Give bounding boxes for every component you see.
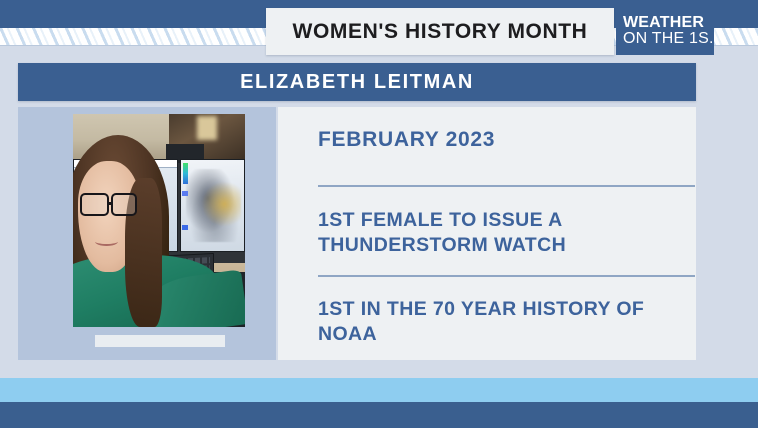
photo-radar-marker-2 bbox=[182, 225, 188, 230]
photo-radar-marker-1 bbox=[182, 191, 188, 196]
photo-smile bbox=[95, 238, 117, 247]
photo-panel bbox=[18, 107, 276, 360]
person-photo bbox=[73, 114, 245, 327]
weather-on-the-1s-logo: WEATHER ON THE 1S. bbox=[616, 8, 714, 55]
divider-rule-2 bbox=[318, 275, 695, 277]
person-name: ELIZABETH LEITMAN bbox=[240, 71, 474, 94]
photo-caption-strip bbox=[95, 335, 225, 347]
photo-eyeglass-left bbox=[80, 193, 109, 216]
broadcast-graphic: WOMEN'S HISTORY MONTH WEATHER ON THE 1S.… bbox=[0, 0, 758, 428]
fact-item-1: 1ST FEMALE TO ISSUE A THUNDERSTORM WATCH bbox=[318, 208, 708, 258]
photo-radar-colorbar bbox=[183, 163, 188, 184]
photo-radar-imagery-right bbox=[186, 169, 242, 242]
facts-panel: FEBRUARY 2023 1ST FEMALE TO ISSUE A THUN… bbox=[278, 107, 696, 360]
segment-title-plate: WOMEN'S HISTORY MONTH bbox=[266, 8, 614, 55]
lower-gap-band bbox=[0, 360, 758, 378]
photo-wall-light bbox=[197, 116, 218, 139]
content-card: FEBRUARY 2023 1ST FEMALE TO ISSUE A THUN… bbox=[18, 107, 696, 360]
date-label: FEBRUARY 2023 bbox=[318, 128, 495, 152]
photo-eyeglass-right bbox=[111, 193, 137, 216]
segment-title: WOMEN'S HISTORY MONTH bbox=[293, 20, 588, 44]
lower-dark-blue-band bbox=[0, 402, 758, 428]
lower-light-blue-band bbox=[0, 378, 758, 402]
photo-eyeglass-bridge bbox=[108, 202, 112, 204]
logo-line-2: ON THE 1S. bbox=[623, 31, 714, 48]
divider-rule-1 bbox=[318, 185, 695, 187]
fact-item-2: 1ST IN THE 70 YEAR HISTORY OF NOAA bbox=[318, 297, 708, 347]
name-banner: ELIZABETH LEITMAN bbox=[18, 63, 696, 101]
photo-monitor-right bbox=[180, 159, 245, 253]
logo-line-1: WEATHER bbox=[623, 15, 704, 31]
